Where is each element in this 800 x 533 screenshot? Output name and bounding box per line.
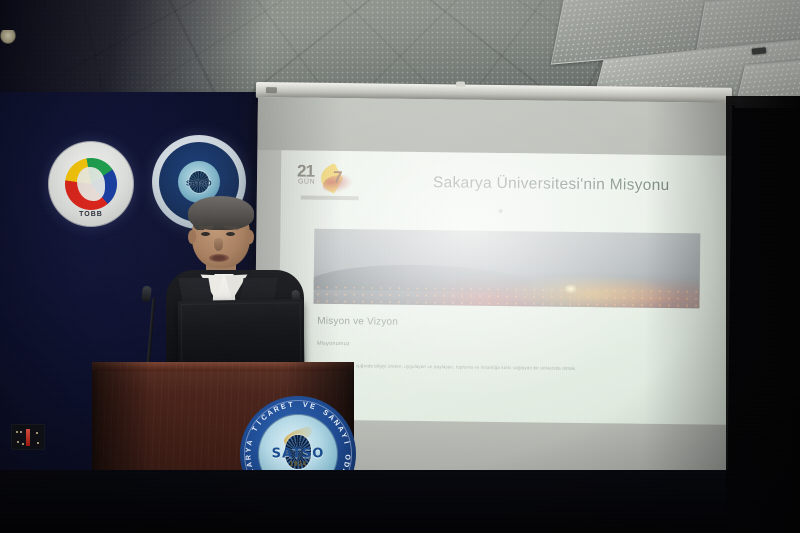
slide-title: Sakarya Üniversitesi'nin Misyonu — [433, 174, 670, 195]
ceiling-light-icon — [0, 30, 16, 44]
wall-control-panel[interactable] — [11, 424, 45, 450]
satso-wall-acronym: SATSO — [186, 180, 212, 187]
slide-section-label: Misyonumuz — [317, 341, 350, 347]
logo-number-7: 7 — [333, 169, 343, 186]
emblem-wordmark: SATSO — [272, 447, 325, 462]
presenter-laptop[interactable] — [178, 299, 305, 371]
logo-word-gun: GÜN — [298, 178, 315, 185]
floor-foreground — [0, 470, 800, 533]
conference-photo-scene: TOBB SATSO 21 GÜN — [0, 0, 800, 533]
emblem-year: 1924 — [289, 461, 307, 468]
slide-body-text: Evrensel değerler ışığında bilgiyi ürete… — [317, 363, 687, 374]
logo-number-21: 21 — [297, 162, 314, 179]
tobb-logo: TOBB — [48, 141, 134, 227]
tobb-acronym: TOBB — [79, 211, 103, 218]
slide-subtitle: Misyon ve Vizyon — [317, 316, 398, 328]
presenter-hair — [188, 196, 254, 230]
slide-panorama-photo — [313, 229, 700, 309]
right-dark-panel — [726, 96, 800, 533]
slide-bullet-icon — [499, 209, 503, 213]
